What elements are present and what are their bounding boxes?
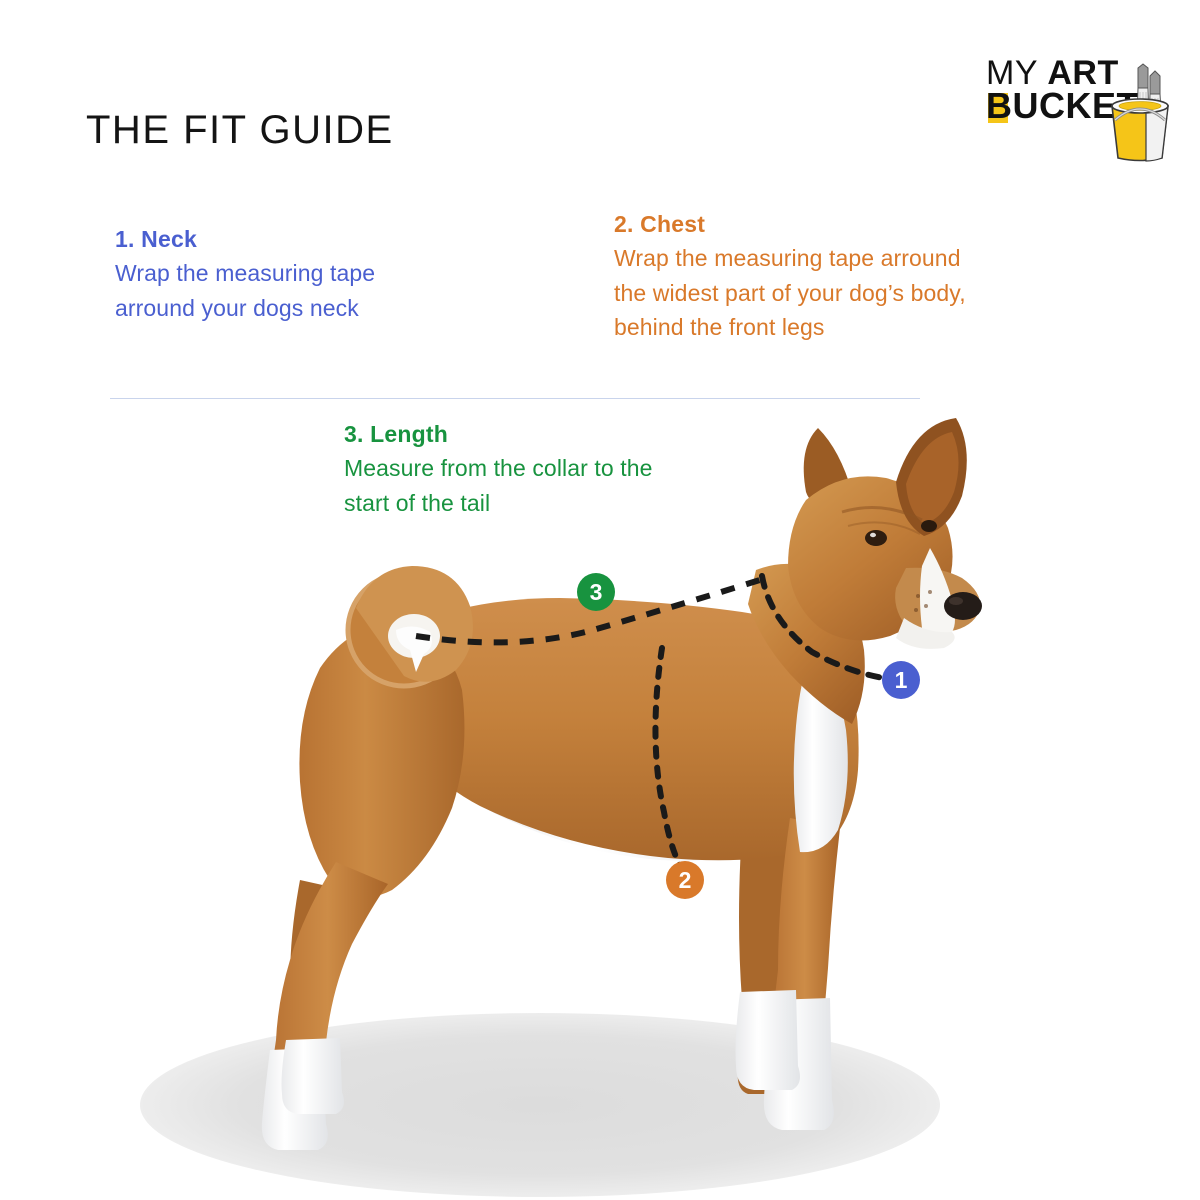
note-neck-body: Wrap the measuring tape arround your dog…	[115, 256, 445, 325]
dog-front-far-paw	[736, 990, 801, 1090]
dog-head	[788, 418, 982, 649]
paint-bucket-with-brushes-icon	[1102, 62, 1180, 162]
note-neck-title: 1. Neck	[115, 226, 445, 253]
dog-far-eye	[921, 520, 937, 532]
dog-tail	[348, 566, 473, 686]
brand-logo: MY ART BUCKET	[986, 58, 1178, 166]
note-chest-title: 2. Chest	[614, 211, 974, 238]
badge-chest[interactable]: 2	[666, 861, 704, 899]
note-chest-body: Wrap the measuring tape arround the wide…	[614, 241, 974, 345]
dog-rear-far-paw	[282, 1038, 345, 1114]
badge-neck[interactable]: 1	[882, 661, 920, 699]
dog-nose	[944, 592, 982, 620]
dog-near-eye	[865, 530, 887, 546]
badge-length[interactable]: 3	[577, 573, 615, 611]
page-title: THE FIT GUIDE	[86, 108, 394, 153]
dog-illustration	[0, 400, 1200, 1200]
divider	[110, 398, 920, 399]
note-chest: 2. Chest Wrap the measuring tape arround…	[614, 211, 974, 345]
note-neck: 1. Neck Wrap the measuring tape arround …	[115, 226, 445, 325]
